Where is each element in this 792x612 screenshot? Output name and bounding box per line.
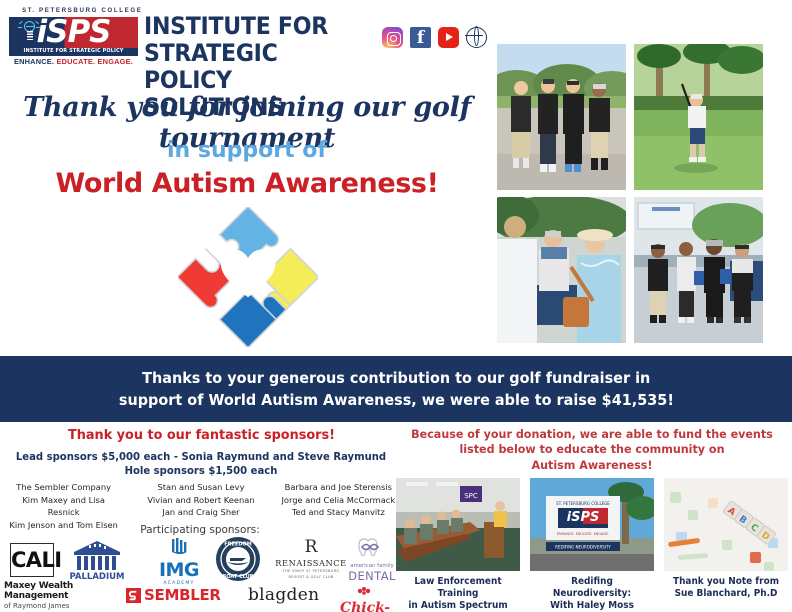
event-caption-line1: Redifing Neurodiversity: [532, 576, 651, 600]
spc-sign-text: SPC [464, 492, 478, 500]
social-icons: f [382, 27, 487, 48]
photo-winners-group [634, 197, 763, 343]
photo-grid [497, 44, 769, 344]
autism-puzzle-heart-icon [178, 207, 318, 347]
fundraiser-banner: Thanks to your generous contribution to … [0, 356, 792, 422]
hole-sponsor-name: Jan and Craig Sher [143, 506, 258, 519]
palladium-logo-text: PALLADIUM [69, 572, 124, 582]
hole-sponsor-name: Kim Jenson and Tom Elsen [6, 519, 121, 532]
photo-golf-swing [634, 44, 763, 190]
renaissance-logo: R RENAISSANCE THE VINOY ST PETERSBURG RE… [272, 539, 350, 581]
hole-sponsor-name: Barbara and Joe Sterensis [281, 481, 396, 494]
event-caption-line2: Sue Blanchard, Ph.D [666, 588, 785, 600]
sembler-logo-text: SEMBLER [144, 586, 221, 604]
sembler-logo: SEMBLER [126, 586, 221, 604]
renaissance-logo-sub1: THE VINOY ST PETERSBURG [272, 569, 350, 574]
renaissance-logo-text: RENAISSANCE [272, 558, 350, 568]
hero-main-headline: World Autism Awareness! [12, 168, 482, 199]
tagline-engage: ENGAGE. [98, 57, 133, 66]
maxey-wealth-management-logo: Maxey Wealth Management of Raymond James [4, 581, 124, 610]
afd-logo-line2: DENTAL [348, 569, 396, 583]
event-thumbnail: ST. PETERSBURG COLLEGE iSPS ENHANCE. EDU… [530, 478, 654, 571]
lead-sponsors-line: Lead sponsors $5,000 each - Sonia Raymun… [16, 450, 387, 464]
maxey-logo-line2: of Raymond James [4, 602, 124, 610]
banner-line-2: support of World Autism Awareness, we we… [118, 389, 673, 411]
cali-logo: CALI [10, 543, 54, 577]
hole-sponsor-name: Kim Maxey and Lisa Resnick [6, 494, 121, 519]
hero-sub-headline: in support of [12, 138, 482, 163]
img-logo-text: IMG [152, 559, 206, 581]
donation-note: Because of your donation, we are able to… [404, 427, 780, 473]
isps-logo-letters: iSPS [9, 16, 138, 49]
event-thumbnail: SPC [396, 478, 520, 571]
flyer-page: ST. PETERSBURG COLLEGE iSPS INSTITUTE FO… [0, 0, 792, 612]
lead-sponsors-block: Lead sponsors $5,000 each - Sonia Raymun… [16, 450, 387, 478]
hole-sponsors-line: Hole sponsors $1,500 each [16, 464, 387, 478]
img-academy-logo: IMG ACADEMY [152, 538, 206, 580]
renaissance-logo-sub2: RESORT & GOLF CLUB [272, 575, 350, 580]
event-caption-line1: Thank you Note from [666, 576, 785, 588]
slide-tagline: ENHANCE. EDUCATE. ENGAGE. [557, 532, 609, 536]
event-caption-line2: With Haley Moss [532, 600, 651, 612]
freedom-boat-club-logo: FREEDOM BOAT CLUB [215, 536, 261, 582]
isps-logo-tagline: ENHANCE. EDUCATE. ENGAGE. [9, 57, 138, 66]
event-caption: Thank you Note from Sue Blanchard, Ph.D [666, 576, 785, 600]
donation-note-line-1: Because of your donation, we are able to… [404, 427, 780, 442]
slide-banner-text: REDIFING NEURODIVERSITY [555, 545, 611, 550]
banner-line-1: Thanks to your generous contribution to … [142, 367, 650, 389]
palladium-logo: PALLADIUM [68, 538, 126, 582]
event-thumbnail: A B C D [664, 478, 788, 571]
event-caption: Redifing Neurodiversity: With Haley Moss [532, 576, 651, 612]
college-kicker: ST. PETERSBURG COLLEGE [22, 7, 142, 14]
slide-isps-logo-text: iSPS [567, 510, 600, 525]
photo-team-group [497, 44, 626, 190]
hole-sponsor-name: Stan and Susan Levy [143, 481, 258, 494]
hole-sponsor-column: Barbara and Joe Sterensis Jorge and Celi… [281, 481, 396, 531]
isps-logo: iSPS INSTITUTE FOR STRATEGIC POLICY SOLU… [9, 17, 138, 60]
freedom-logo-top: FREEDOM [224, 542, 251, 548]
youtube-icon[interactable] [438, 27, 459, 48]
participating-sponsors-label: Participating sponsors: [120, 524, 280, 536]
event-caption-line2: in Autism Spectrum Disorder [398, 600, 517, 612]
facebook-icon[interactable]: f [410, 27, 431, 48]
instagram-icon[interactable] [382, 27, 403, 48]
website-icon[interactable] [466, 27, 487, 48]
hole-sponsor-name: Vivian and Robert Keenan [143, 494, 258, 507]
event-caption: Law Enforcement Training in Autism Spect… [398, 576, 517, 612]
event-thank-you-note: A B C D Thank you Note from Sue Blanchar… [664, 478, 788, 612]
funded-events-list: SPC Law Enforce [396, 478, 788, 612]
tagline-enhance: ENHANCE. [14, 57, 54, 66]
chick-fil-a-logo-text: Chick-fil-A [330, 600, 400, 612]
chick-fil-a-logo: Chick-fil-A [330, 582, 400, 612]
hole-sponsor-name: Jorge and Celia McCormack [281, 494, 396, 507]
hole-sponsor-name: Ted and Stacy Manvitz [281, 506, 396, 519]
freedom-logo-bottom: BOAT CLUB [222, 574, 253, 580]
event-redefining-neurodiversity: ST. PETERSBURG COLLEGE iSPS ENHANCE. EDU… [530, 478, 654, 612]
hole-sponsor-column: The Sembler Company Kim Maxey and Lisa R… [6, 481, 121, 531]
event-caption-line1: Law Enforcement Training [398, 576, 517, 600]
chick-fil-a-crest-icon [330, 585, 400, 595]
blagden-logo: blagden [248, 585, 319, 605]
american-family-dental-logo: american family DENTAL [348, 536, 396, 583]
donation-note-line-2: listed below to educate the community on [404, 442, 780, 457]
donation-note-line-3: Autism Awareness! [404, 458, 780, 473]
isps-logo-caption: INSTITUTE FOR STRATEGIC POLICY SOLUTIONS [9, 48, 138, 56]
photo-registration [497, 197, 626, 343]
event-law-enforcement-training: SPC Law Enforce [396, 478, 520, 612]
sponsors-title: Thank you to our fantastic sponsors! [20, 427, 384, 443]
maxey-logo-line1: Maxey Wealth Management [4, 581, 124, 601]
tagline-educate: EDUCATE. [56, 57, 95, 66]
sembler-mark-icon [126, 588, 141, 603]
renaissance-logo-mark: R [272, 539, 350, 556]
hole-sponsor-name: The Sembler Company [6, 481, 121, 494]
slide-kicker: ST. PETERSBURG COLLEGE [556, 501, 610, 506]
